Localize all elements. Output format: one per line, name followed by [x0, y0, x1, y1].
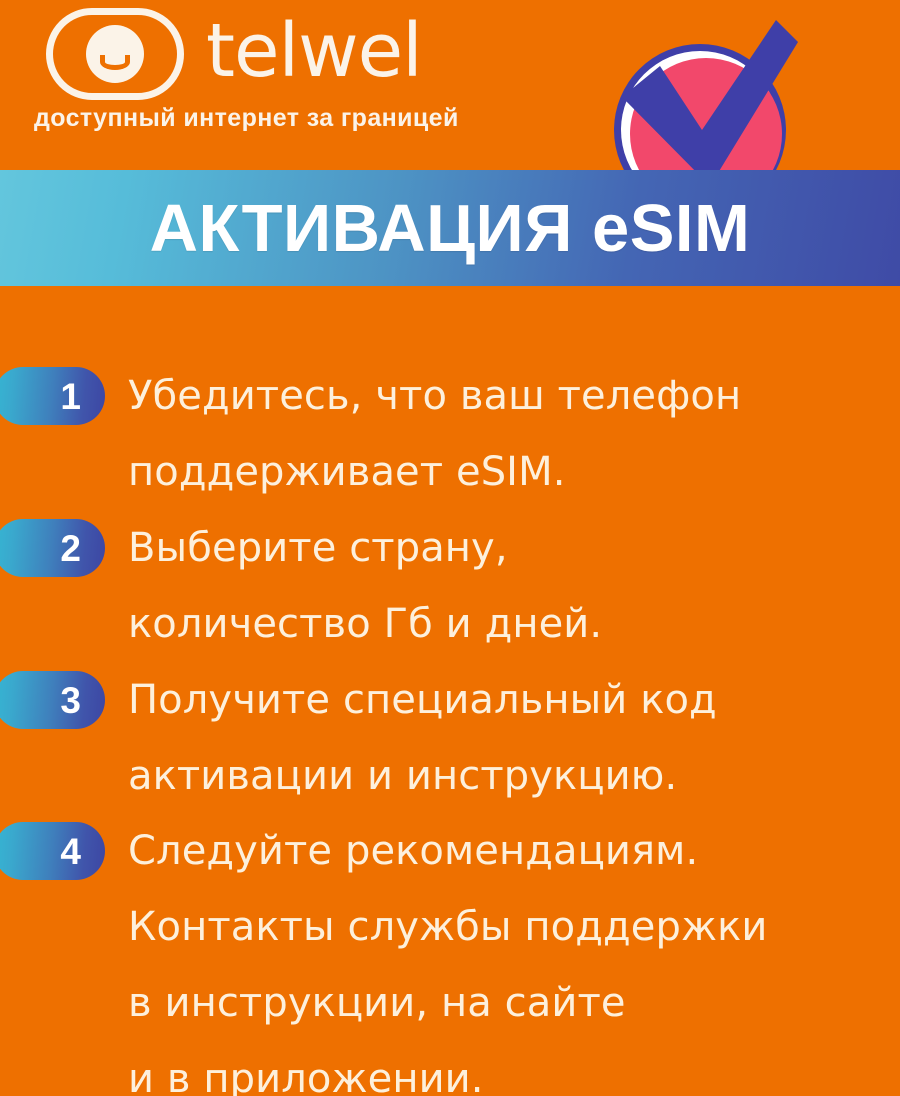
step-text: Выберите страну, количество Гб и дней.: [128, 510, 900, 662]
step-text-line: Контакты службы поддержки: [128, 889, 880, 965]
step-text: Следуйте рекомендациям. Контакты службы …: [128, 813, 900, 1096]
step-text: Получите специальный код активации и инс…: [128, 662, 900, 814]
step-text-line: Получите специальный код: [128, 662, 880, 738]
step-text-line: Выберите страну,: [128, 510, 880, 586]
step-text: Убедитесь, что ваш телефон поддерживает …: [128, 358, 900, 510]
step-number: 3: [60, 682, 81, 719]
step-number: 4: [60, 833, 81, 870]
page-title: АКТИВАЦИЯ eSIM: [150, 195, 751, 262]
list-item: 1 Убедитесь, что ваш телефон поддерживае…: [0, 358, 900, 510]
list-item: 3 Получите специальный код активации и и…: [0, 662, 900, 814]
brand-tagline: доступный интернет за границей: [34, 104, 459, 133]
smiley-rounded-rect-icon: [46, 8, 184, 100]
step-text-line: количество Гб и дней.: [128, 586, 880, 662]
step-text-line: активации и инструкцию.: [128, 738, 880, 814]
step-number: 1: [60, 378, 81, 415]
step-text-line: в инструкции, на сайте: [128, 965, 880, 1041]
step-text-line: и в приложении.: [128, 1041, 880, 1096]
list-item: 4 Следуйте рекомендациям. Контакты служб…: [0, 813, 900, 1096]
step-number-badge: 3: [0, 671, 105, 729]
step-number-badge: 4: [0, 822, 105, 880]
poster-root: telwel доступный интернет за границей АК…: [0, 0, 900, 1096]
step-number-badge: 2: [0, 519, 105, 577]
brand-logo: telwel: [46, 8, 422, 100]
title-banner: АКТИВАЦИЯ eSIM: [0, 170, 900, 286]
brand-wordmark: telwel: [206, 14, 422, 94]
step-number: 2: [60, 530, 81, 567]
step-text-line: Следуйте рекомендациям.: [128, 813, 880, 889]
step-text-line: поддерживает eSIM.: [128, 434, 880, 510]
step-number-badge: 1: [0, 367, 105, 425]
smile-arc-icon: [100, 55, 130, 70]
list-item: 2 Выберите страну, количество Гб и дней.: [0, 510, 900, 662]
step-text-line: Убедитесь, что ваш телефон: [128, 358, 880, 434]
logo-face-circle: [86, 25, 144, 83]
